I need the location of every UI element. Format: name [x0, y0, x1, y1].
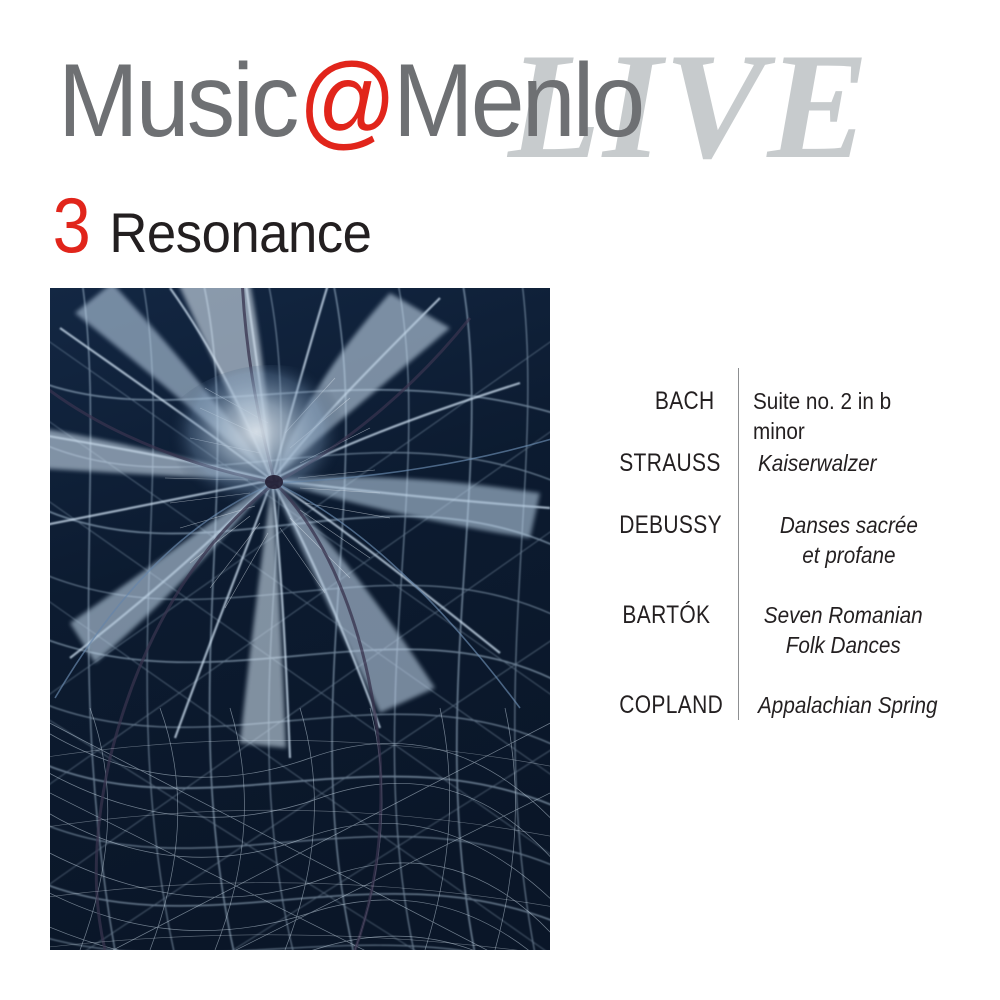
album-cover: LIVE Music@Menlo 3 Resonance [0, 0, 1000, 1000]
composer-name: BACH [618, 386, 714, 416]
composer-name: COPLAND [619, 690, 720, 720]
track-row: COPLAND Appalachian Spring [600, 690, 960, 720]
composer-name: STRAUSS [619, 448, 720, 478]
release-number: 3 [53, 186, 91, 264]
release-title: Resonance [110, 205, 372, 261]
track-row: BARTÓK Seven Romanian Folk Dances [600, 600, 960, 660]
release-heading: 3 Resonance [50, 186, 380, 264]
composer-name: BARTÓK [618, 600, 711, 630]
work-title: Kaiserwalzer [758, 448, 876, 478]
work-title: Suite no. 2 in b minor [753, 386, 940, 446]
brand-logo: LIVE Music@Menlo [58, 42, 938, 172]
track-row: DEBUSSY Danses sacrée et profane [600, 510, 960, 570]
wordmark-menlo-text: Menlo [393, 43, 642, 159]
work-title: Appalachian Spring [758, 690, 938, 720]
work-title: Seven Romanian Folk Dances [748, 600, 938, 660]
track-row: STRAUSS Kaiserwalzer [600, 448, 960, 478]
fractal-burst-graphic [50, 288, 550, 950]
program-listing: BACH Suite no. 2 in b minor STRAUSS Kais… [600, 368, 960, 720]
at-symbol-icon: @ [297, 43, 393, 159]
music-at-menlo-wordmark: Music@Menlo [58, 42, 642, 162]
composer-name: DEBUSSY [619, 510, 720, 540]
cover-artwork [50, 288, 550, 950]
track-row: BACH Suite no. 2 in b minor [600, 386, 960, 446]
wordmark-music-text: Music [58, 43, 297, 159]
work-title: Danses sacrée et profane [758, 510, 940, 570]
